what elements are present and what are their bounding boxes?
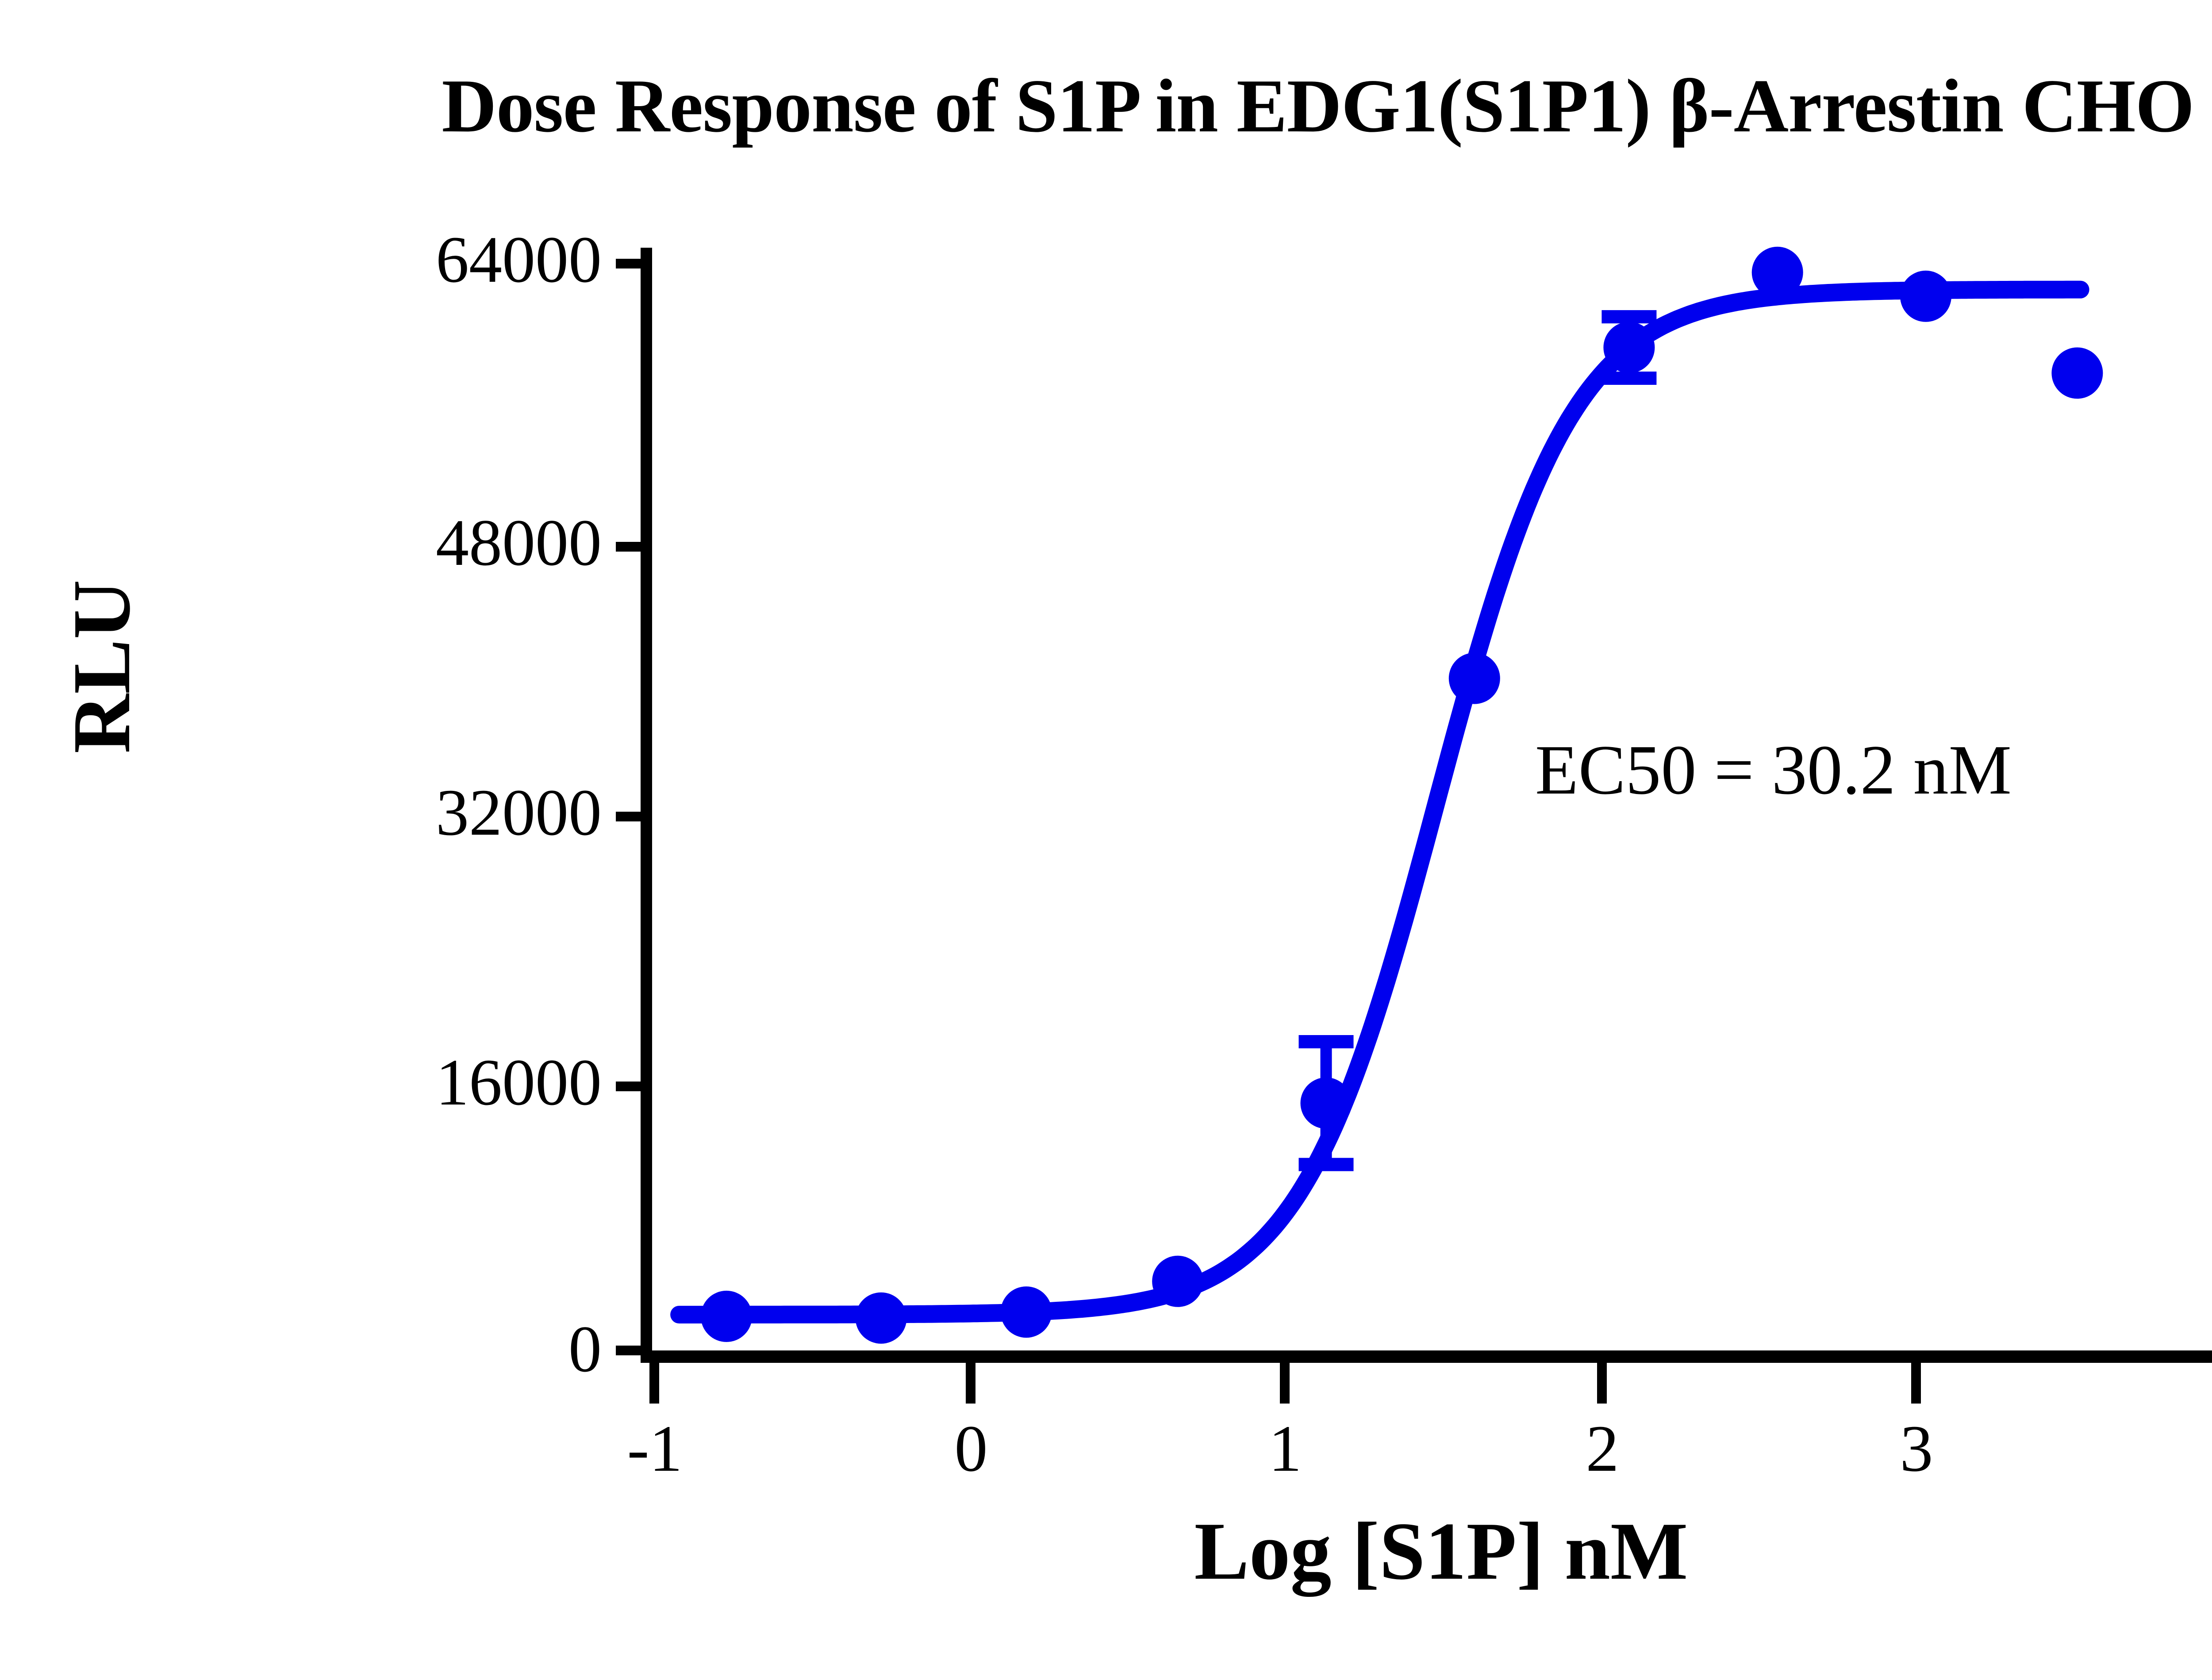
data-point — [701, 1291, 752, 1342]
y-axis-line — [641, 248, 652, 1362]
error-bar — [1601, 317, 1656, 378]
y-tick-label-4: 64000 — [336, 226, 602, 293]
y-tick-label-1: 16000 — [336, 1049, 602, 1116]
y-tick-label-2: 32000 — [336, 779, 602, 846]
y-tick-3 — [616, 542, 641, 552]
y-tick-1 — [616, 1082, 641, 1091]
x-tick-label-3: 2 — [1536, 1415, 1669, 1482]
data-point — [856, 1293, 907, 1344]
data-point — [1900, 271, 1951, 322]
data-point — [1752, 247, 1803, 298]
y-tick-2 — [616, 812, 641, 821]
data-point — [1301, 1078, 1352, 1129]
x-axis-title: Log [S1P] nM — [650, 1504, 2212, 1599]
data-point — [1449, 653, 1500, 704]
y-tick-label-0: 0 — [336, 1316, 602, 1382]
data-point — [2051, 347, 2103, 399]
x-tick-4 — [1911, 1363, 1921, 1404]
error-bar — [1299, 1042, 1354, 1165]
data-point — [1603, 322, 1655, 373]
y-axis-title: RLU — [54, 468, 149, 866]
x-tick-label-0: -1 — [588, 1415, 721, 1482]
y-tick-0 — [616, 1346, 641, 1355]
x-tick-label-1: 0 — [905, 1415, 1037, 1482]
chart-figure: Dose Response of S1P in EDG1(S1P1) β-Arr… — [0, 0, 2212, 1680]
x-tick-3 — [1597, 1363, 1607, 1404]
y-tick-4 — [616, 259, 641, 268]
x-tick-0 — [649, 1363, 659, 1404]
x-tick-2 — [1280, 1363, 1290, 1404]
x-axis-line — [641, 1350, 2212, 1363]
chart-title: Dose Response of S1P in EDG1(S1P1) β-Arr… — [0, 66, 2212, 146]
ec50-annotation: EC50 = 30.2 nM — [1535, 734, 2012, 805]
x-tick-label-5: 4 — [2166, 1415, 2212, 1482]
x-tick-label-4: 3 — [1850, 1415, 1983, 1482]
y-tick-label-3: 48000 — [336, 510, 602, 576]
data-point — [1001, 1286, 1052, 1338]
data-point — [1152, 1256, 1203, 1307]
x-tick-1 — [966, 1363, 975, 1404]
x-tick-label-2: 1 — [1219, 1415, 1352, 1482]
